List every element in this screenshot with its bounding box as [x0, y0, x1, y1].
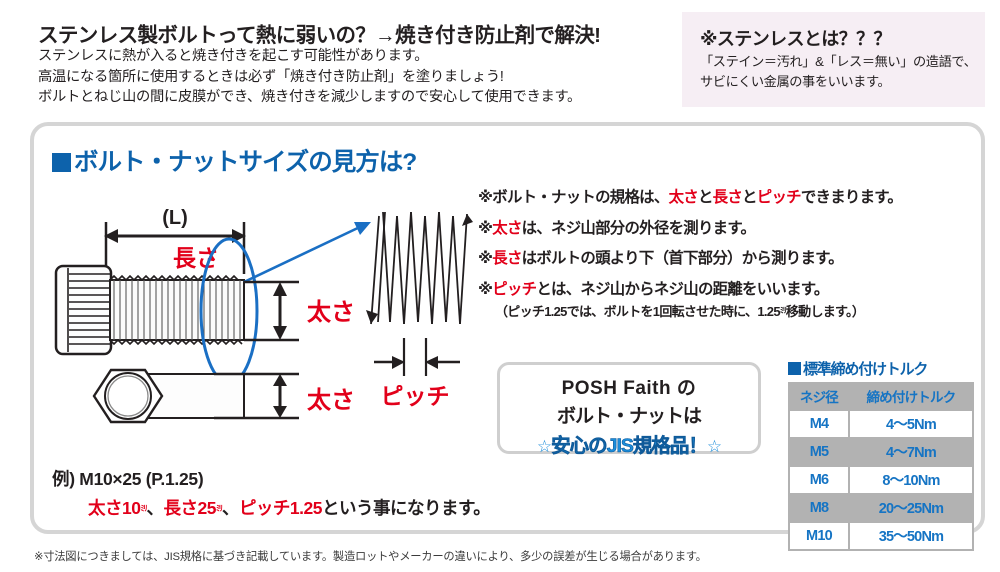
bullet-text-run: 長さ: [492, 250, 521, 267]
square-bullet-icon: [52, 153, 71, 172]
square-bullet-icon: [788, 362, 801, 375]
cell-screw-size: M10: [790, 523, 848, 549]
bullet-text-run: ピッチ: [492, 281, 536, 298]
callout-arrow: [244, 222, 371, 282]
example-text-run: という事になります。: [322, 498, 490, 518]
bullet-text-run: ※ボルト・ナットの規格は、: [478, 189, 669, 206]
bullet-text-run: と: [742, 189, 757, 206]
bullet-item: ※ボルト・ナットの規格は、太さと長さとピッチできまります。: [478, 183, 988, 214]
bullet-text-run: とは、ネジ山からネジ山の距離をいいます。: [536, 281, 828, 298]
note-text-run: 移動します。）: [786, 304, 864, 319]
thread-profile-detail: [366, 212, 473, 324]
stainless-line-1: 「ステイン＝汚れ」&「レス＝無い」の造語で、: [700, 52, 976, 72]
pitch-dimension: [374, 338, 460, 376]
posh-line-2: ボルト・ナットは: [500, 401, 758, 428]
torque-title-text: 標準締め付けトルク: [803, 361, 927, 378]
bolt-shank-threads: [110, 276, 244, 344]
bullet-text-run: はボルトの頭より下（首下部分）から測ります。: [522, 250, 843, 267]
cell-screw-size: M4: [790, 411, 848, 437]
page-headline: ステンレス製ボルトって熱に弱いの？→焼き付き防止剤で解決!: [38, 18, 658, 48]
label-length: 長さ: [173, 245, 219, 271]
bullet-text-run: ※: [478, 250, 492, 267]
bolt-nut-dimension-diagram: (L) 長さ: [44, 196, 474, 446]
cell-screw-size: M5: [790, 439, 848, 465]
example-block: 例) M10×25 (P.1.25) 太さ10ﾐﾘ、長さ25ﾐﾘ、ピッチ1.25…: [52, 466, 490, 520]
main-panel-title-text: ボルト・ナットサイズの見方は?: [74, 149, 416, 176]
cell-screw-size: M6: [790, 467, 848, 493]
table-header-row: ネジ径 締め付けトルク: [790, 384, 972, 409]
intro-paragraph: ステンレスに熱が入ると焼き付きを起こす可能性があります。 高温になる箇所に使用す…: [38, 46, 678, 108]
bullet-text-run: ※: [478, 220, 492, 237]
intro-line-3: ボルトとねじ山の間に皮膜ができ、焼き付きを減少しますので安心して使用できます。: [38, 87, 678, 108]
table-row: M68〜10Nm: [790, 467, 972, 493]
star-right-icon: ☆: [707, 437, 721, 456]
example-text-run: 長さ25: [163, 498, 215, 518]
posh-line-3-text: 安心のJIS規格品！: [551, 435, 707, 457]
stainless-info-box: ※ステンレスとは？？？ 「ステイン＝汚れ」&「レス＝無い」の造語で、 サビにくい…: [682, 12, 985, 107]
note-text-run: （ピッチ1.25では、ボルトを1回転させた時に、1.25: [495, 304, 780, 319]
cell-torque-value: 8〜10Nm: [850, 467, 972, 493]
intro-line-2: 高温になる箇所に使用するときは必ず「焼き付き防止剤」を塗りましょう!: [38, 67, 678, 88]
footnote-text: ※寸法図につきましては、JIS規格に基づき記載しています。製造ロットやメーカーの…: [34, 548, 707, 564]
table-row: M1035〜50Nm: [790, 523, 972, 549]
nut-diagram: [94, 370, 244, 422]
torque-table-title: 標準締め付けトルク: [788, 358, 978, 379]
bullet-item: ※長さはボルトの頭より下（首下部分）から測ります。: [478, 244, 988, 275]
table-row: M54〜7Nm: [790, 439, 972, 465]
example-text-run: 、: [222, 498, 239, 518]
bullet-text-run: ピッチ: [757, 189, 801, 206]
torque-table-section: 標準締め付けトルク ネジ径 締め付けトルク M44〜5NmM54〜7NmM68〜…: [788, 358, 978, 551]
bullet-text-run: は、ネジ山部分の外径を測ります。: [522, 220, 756, 237]
specification-bullet-list: ※ボルト・ナットの規格は、太さと長さとピッチできまります。 ※太さは、ネジ山部分…: [478, 183, 988, 320]
label-L: (L): [162, 207, 188, 229]
example-text-run: 、: [146, 498, 163, 518]
cell-screw-size: M8: [790, 495, 848, 521]
table-row: M820〜25Nm: [790, 495, 972, 521]
pitch-explanation-note: （ピッチ1.25では、ボルトを1回転させた時に、1.25ﾐﾘ移動します。）: [478, 301, 988, 320]
table-row: M44〜5Nm: [790, 411, 972, 437]
bullet-item: ※太さは、ネジ山部分の外径を測ります。: [478, 214, 988, 245]
stainless-box-title: ※ステンレスとは？？？: [700, 25, 891, 51]
bolt-thickness-dimension: [244, 282, 299, 340]
stainless-line-2: サビにくい金属の事をいいます。: [700, 72, 976, 92]
bullet-text-run: 太さ: [669, 189, 698, 206]
bullet-text-run: 太さ: [492, 220, 521, 237]
label-thickness-bolt: 太さ: [307, 299, 355, 326]
posh-faith-jis-box: POSH Faith の ボルト・ナットは ☆安心のJIS規格品！☆: [497, 362, 761, 454]
example-line-1: 例) M10×25 (P.1.25): [52, 466, 490, 491]
bullet-text-run: できまります。: [801, 189, 902, 206]
bullet-text-run: ※: [478, 281, 492, 298]
torque-table: ネジ径 締め付けトルク M44〜5NmM54〜7NmM68〜10NmM820〜2…: [788, 382, 974, 551]
stainless-box-body: 「ステイン＝汚れ」&「レス＝無い」の造語で、 サビにくい金属の事をいいます。: [700, 52, 976, 91]
posh-line-1: POSH Faith の: [500, 373, 758, 400]
column-header-size: ネジ径: [790, 384, 848, 409]
bolt-head: [56, 266, 111, 354]
star-left-icon: ☆: [537, 437, 551, 456]
bullet-text-run: と: [698, 189, 713, 206]
cell-torque-value: 4〜7Nm: [850, 439, 972, 465]
bullet-text-run: 長さ: [713, 189, 742, 206]
label-thickness-nut: 太さ: [307, 387, 355, 414]
column-header-torque: 締め付けトルク: [850, 384, 972, 409]
posh-line-3: ☆安心のJIS規格品！☆: [500, 429, 758, 458]
cell-torque-value: 20〜25Nm: [850, 495, 972, 521]
cell-torque-value: 35〜50Nm: [850, 523, 972, 549]
cell-torque-value: 4〜5Nm: [850, 411, 972, 437]
example-text-run: ピッチ1.25: [239, 498, 322, 518]
intro-line-1: ステンレスに熱が入ると焼き付きを起こす可能性があります。: [38, 46, 678, 67]
example-line-2: 太さ10ﾐﾘ、長さ25ﾐﾘ、ピッチ1.25という事になります。: [52, 495, 490, 520]
example-text-run: 太さ10: [88, 498, 140, 518]
label-pitch: ピッチ: [381, 383, 450, 409]
main-panel-title: ボルト・ナットサイズの見方は?: [52, 143, 416, 178]
